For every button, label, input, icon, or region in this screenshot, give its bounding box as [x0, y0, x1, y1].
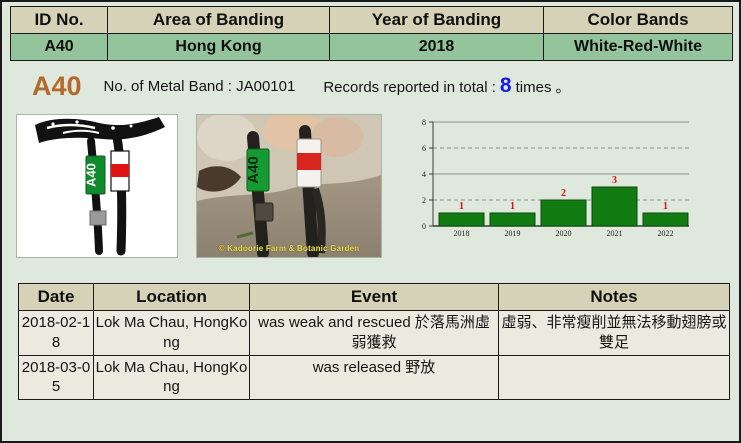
banding-value-color: White-Red-White [544, 34, 733, 61]
chart-label-2019: 1 [510, 201, 515, 212]
info-records-unit: times [516, 79, 552, 96]
photo-copyright-text: © Kadoorie Farm & Botanic Garden [197, 244, 381, 253]
banding-header-row: ID No. Area of Banding Year of Banding C… [11, 7, 733, 34]
chart-bar-2021 [592, 187, 637, 226]
banding-header-id: ID No. [11, 7, 108, 34]
chart-label-2021: 3 [612, 175, 617, 186]
banding-value-year: 2018 [330, 34, 544, 61]
records-header-row: Date Location Event Notes [19, 284, 730, 311]
banding-header-year: Year of Banding [330, 7, 544, 34]
records-header-location: Location [94, 284, 250, 311]
info-records-count: 8 [500, 74, 512, 98]
record-date: 2018-03-05 [19, 355, 94, 400]
chart-xtick-2018: 2018 [454, 229, 470, 238]
record-date: 2018-02-18 [19, 311, 94, 356]
chart-label-2018: 1 [459, 201, 464, 212]
banding-summary-table: ID No. Area of Banding Year of Banding C… [10, 6, 733, 61]
leg-band-diagram-image: A40 [16, 114, 178, 258]
records-header-notes: Notes [499, 284, 730, 311]
banding-value-area: Hong Kong [108, 34, 330, 61]
chart-bar-2022 [643, 213, 688, 226]
chart-bar-2019 [490, 213, 535, 226]
info-records-label: Records reported in total : [323, 79, 496, 96]
record-event: was released 野放 [250, 355, 499, 400]
info-summary-line: A40 No. of Metal Band : JA00101 Records … [10, 68, 733, 104]
chart-xtick-2019: 2019 [505, 229, 521, 238]
chart-ytick-4: 4 [422, 170, 426, 179]
chart-xtick-2020: 2020 [556, 229, 572, 238]
banding-value-id: A40 [11, 34, 108, 61]
banding-value-row: A40 Hong Kong 2018 White-Red-White [11, 34, 733, 61]
chart-ytick-0: 0 [422, 222, 426, 231]
info-id-label: A40 [32, 71, 82, 102]
banding-record-page: ID No. Area of Banding Year of Banding C… [0, 0, 741, 443]
leg-band-photo-svg: A40 [197, 115, 381, 257]
chart-ytick-6: 6 [422, 144, 426, 153]
leg-band-diagram-svg: A40 [17, 115, 177, 257]
records-header-date: Date [19, 284, 94, 311]
chart-ytick-8: 8 [422, 118, 426, 127]
reports-per-year-chart-svg: 8 6 4 2 0 1 1 2 3 1 [407, 114, 699, 246]
record-location: Lok Ma Chau, HongKong [94, 355, 250, 400]
diagram-band-code: A40 [84, 163, 99, 187]
reports-per-year-chart: 8 6 4 2 0 1 1 2 3 1 [407, 114, 699, 246]
chart-xtick-2021: 2021 [607, 229, 623, 238]
chart-label-2022: 1 [663, 201, 668, 212]
records-header-event: Event [250, 284, 499, 311]
records-table: Date Location Event Notes 2018-02-18 Lok… [18, 283, 730, 400]
banding-header-color: Color Bands [544, 7, 733, 34]
chart-xtick-2022: 2022 [658, 229, 674, 238]
chart-bar-2020 [541, 200, 586, 226]
photo-band-code: A40 [245, 156, 262, 184]
info-records-punctuation: 。 [555, 76, 570, 97]
table-row: 2018-02-18 Lok Ma Chau, HongKong was wea… [19, 311, 730, 356]
record-location: Lok Ma Chau, HongKong [94, 311, 250, 356]
table-row: 2018-03-05 Lok Ma Chau, HongKong was rel… [19, 355, 730, 400]
info-records-total: Records reported in total : 8 times 。 [323, 74, 570, 98]
chart-bar-2018 [439, 213, 484, 226]
record-notes: 虛弱、非常瘦削並無法移動翅膀或雙足 [499, 311, 730, 356]
record-event: was weak and rescued 於落馬洲虛弱獲救 [250, 311, 499, 356]
leg-band-photo-image: A40 © Kadoorie Farm & Botanic Garden [196, 114, 382, 258]
chart-label-2020: 2 [561, 188, 566, 199]
info-metal-band-label: No. of Metal Band : JA00101 [104, 78, 296, 95]
chart-ytick-2: 2 [422, 196, 426, 205]
banding-header-area: Area of Banding [108, 7, 330, 34]
record-notes [499, 355, 730, 400]
